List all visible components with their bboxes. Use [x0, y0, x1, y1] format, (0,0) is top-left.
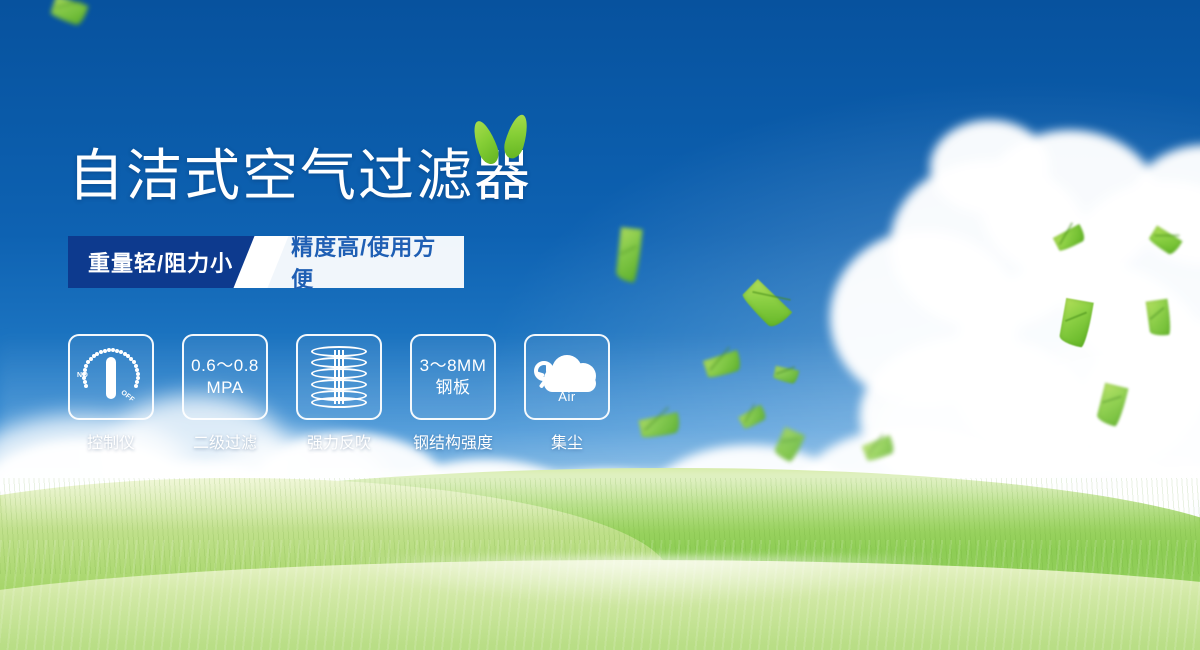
dial-gauge-icon: NO OFF	[77, 343, 145, 411]
subtitle-left-text: 重量轻/阻力小	[68, 236, 261, 288]
subtitle-bar: 重量轻/阻力小 精度高/使用方便	[68, 236, 464, 288]
product-banner: 自洁式空气过滤器 重量轻/阻力小 精度高/使用方便 NO OFF 控制仪 0.6…	[0, 0, 1200, 650]
coil-ring	[311, 379, 367, 390]
feature-box-dust[interactable]: Air	[524, 334, 610, 420]
coil-filter-icon	[311, 346, 367, 408]
feature-box-filtration[interactable]: 0.6～0.8 MPA	[182, 334, 268, 420]
coil-ring	[311, 397, 367, 408]
coil-ring	[311, 357, 367, 368]
feature-label-filtration: 二级过滤	[193, 429, 257, 453]
subtitle-right-text: 精度高/使用方便	[261, 236, 464, 288]
coil-ring	[311, 346, 367, 357]
steel-value-line1: 3～8MM	[420, 355, 487, 377]
dial-tick-dot	[134, 384, 138, 388]
page-title: 自洁式空气过滤器	[68, 144, 532, 208]
dial-off-label: OFF	[119, 389, 135, 404]
air-label: Air	[534, 389, 600, 404]
dial-tick-dot	[84, 384, 88, 388]
feature-box-steel[interactable]: 3～8MM 钢板	[410, 334, 496, 420]
dial-tick-dot	[83, 380, 87, 384]
coil-ring	[311, 368, 367, 379]
feature-label-dust: 集尘	[551, 429, 583, 453]
feature-box-backblow[interactable]	[296, 334, 382, 420]
pressure-value-line2: MPA	[206, 377, 243, 399]
dial-needle	[106, 357, 116, 399]
dial-tick-dot	[83, 368, 87, 372]
feature-label-backblow: 强力反吹	[307, 429, 371, 453]
grass-texture-near	[0, 540, 1200, 650]
sprout-leaf-right	[501, 112, 532, 160]
feature-box-controller[interactable]: NO OFF	[68, 334, 154, 420]
steel-value-line2: 钢板	[436, 377, 471, 399]
pressure-value-line1: 0.6～0.8	[191, 355, 259, 377]
sprout-leaf-left	[469, 118, 502, 167]
feature-item-dust[interactable]: Air 集尘	[524, 334, 610, 453]
cloud-air-icon: Air	[534, 349, 600, 405]
feature-item-filtration[interactable]: 0.6～0.8 MPA 二级过滤	[182, 334, 268, 453]
feature-item-steel[interactable]: 3～8MM 钢板 钢结构强度	[410, 334, 496, 453]
feature-item-backblow[interactable]: 强力反吹	[296, 334, 382, 453]
dial-tick-dot	[84, 364, 88, 368]
feature-item-controller[interactable]: NO OFF 控制仪	[68, 334, 154, 453]
feature-list: NO OFF 控制仪 0.6～0.8 MPA 二级过滤	[68, 334, 610, 453]
feature-label-controller: 控制仪	[87, 429, 135, 453]
feature-label-steel: 钢结构强度	[413, 429, 493, 453]
sprout-leaves-icon	[470, 112, 540, 168]
